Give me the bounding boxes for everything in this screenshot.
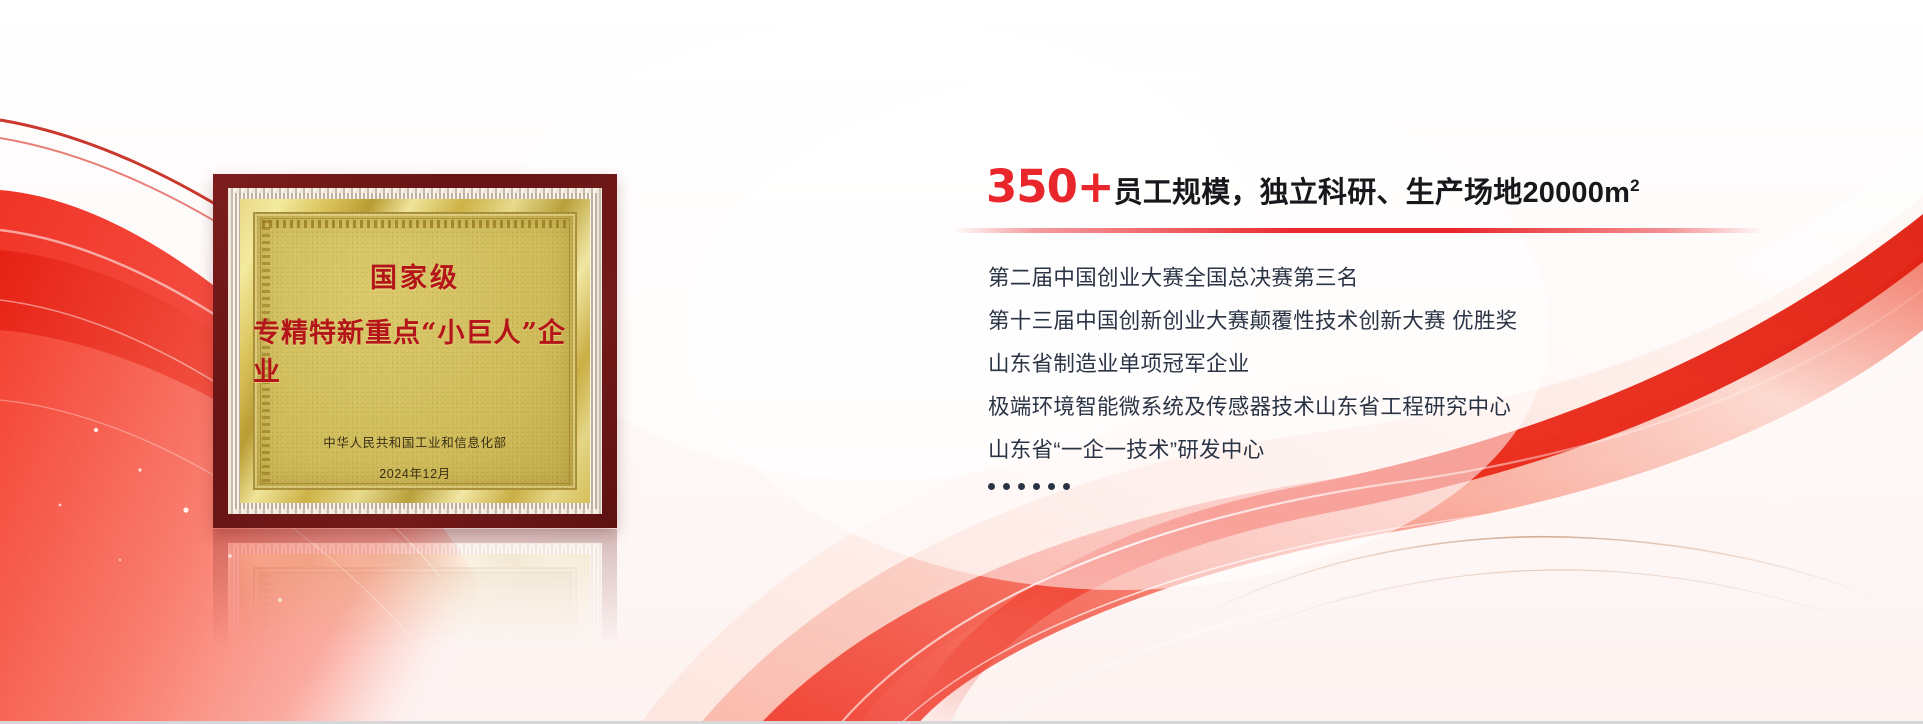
achievement-list: 第二届中国创业大赛全国总决赛第三名 第十三届中国创新创业大赛颠覆性技术创新大赛 … (988, 268, 1868, 490)
list-item: 极端环境智能微系统及传感器技术山东省工程研究中心 (988, 397, 1868, 419)
ellipsis-dot (1003, 483, 1010, 490)
list-item: 山东省制造业单项冠军企业 (988, 354, 1868, 376)
plaque-reflection-silver2 (233, 548, 597, 679)
ellipsis-dots (988, 483, 1868, 490)
headline-text: 员工规模，独立科研、生产场地20000m (1114, 179, 1630, 208)
list-item: 第十三届中国创新创业大赛颠覆性技术创新大赛 优胜奖 (988, 311, 1868, 333)
promotional-banner: 国家级 专精特新重点“小巨人”企业 中华人民共和国工业和信息化部 2024年12… (0, 0, 1923, 724)
plaque-reflection-plate (253, 567, 577, 679)
plaque-text-block: 国家级 专精特新重点“小巨人”企业 中华人民共和国工业和信息化部 2024年12… (253, 212, 577, 490)
ellipsis-dot (988, 483, 995, 490)
plaque-gold-plate: 国家级 专精特新重点“小巨人”企业 中华人民共和国工业和信息化部 2024年12… (253, 212, 577, 490)
plaque-reflection-image (213, 529, 617, 679)
plaque-title-line1: 国家级 (370, 256, 460, 295)
headline-underline (952, 228, 1764, 233)
content-panel: 350+员工规模，独立科研、生产场地20000m2 第二届中国创业大赛全国总决赛… (988, 164, 1888, 209)
list-item: 山东省“一企一技术”研发中心 (988, 440, 1868, 462)
headline: 350+员工规模，独立科研、生产场地20000m2 (986, 164, 1888, 209)
ellipsis-dot (1063, 483, 1070, 490)
plaque-title-line2: 专精特新重点“小巨人”企业 (253, 311, 577, 389)
ellipsis-dot (1018, 483, 1025, 490)
plaque-issuer: 中华人民共和国工业和信息化部 (323, 432, 506, 451)
ellipsis-dot (1033, 483, 1040, 490)
headline-number: 350+ (986, 164, 1114, 209)
list-item: 第二届中国创业大赛全国总决赛第三名 (988, 268, 1868, 290)
ellipsis-dot (1048, 483, 1055, 490)
plaque-reflection-silver (228, 543, 602, 679)
plaque-reflection-fret (260, 573, 570, 679)
plaque-reflection-frame (213, 529, 617, 679)
plaque-reflection-goldband (240, 554, 590, 679)
plaque-date: 2024年12月 (379, 463, 451, 482)
plaque-reflection-texture (253, 567, 577, 679)
plaque-outer-frame: 国家级 专精特新重点“小巨人”企业 中华人民共和国工业和信息化部 2024年12… (213, 174, 617, 528)
plaque-reflection (213, 529, 617, 679)
award-plaque: 国家级 专精特新重点“小巨人”企业 中华人民共和国工业和信息化部 2024年12… (213, 174, 617, 528)
headline-superscript: 2 (1630, 177, 1640, 194)
